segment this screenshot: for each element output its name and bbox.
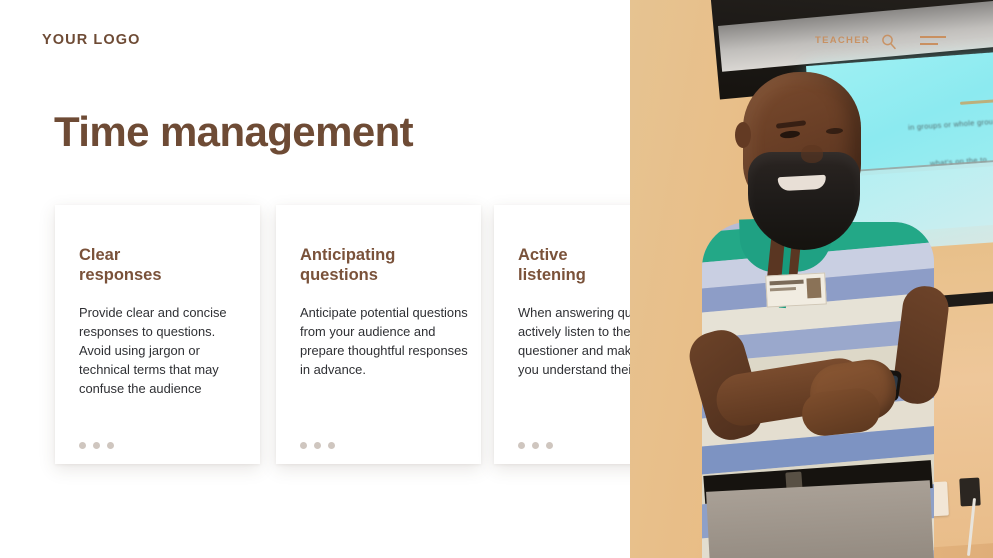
brand-logo[interactable]: YOUR LOGO xyxy=(42,32,141,48)
trousers xyxy=(706,480,934,558)
ear xyxy=(735,122,751,148)
card-body: Anticipate potential questions from your… xyxy=(300,304,469,380)
nose xyxy=(801,145,823,163)
card-title-line-1: Clear xyxy=(79,246,120,264)
dot-3[interactable] xyxy=(107,442,114,449)
slide-root: YOUR LOGO Time management Clear response… xyxy=(0,0,993,558)
card-title: Clear responses xyxy=(79,245,244,286)
feature-cards-group: Clear responses Provide clear and concis… xyxy=(55,205,700,464)
hamburger-menu-icon[interactable] xyxy=(920,36,946,48)
feature-card-clear-responses[interactable]: Clear responses Provide clear and concis… xyxy=(55,205,260,464)
card-title-line-2: listening xyxy=(518,266,586,284)
dot-1[interactable] xyxy=(79,442,86,449)
feature-card-anticipating-questions[interactable]: Anticipating questions Anticipate potent… xyxy=(276,205,481,464)
card-title-line-2: questions xyxy=(300,266,378,284)
presenter-figure xyxy=(630,0,993,558)
top-navigation: TEACHER xyxy=(630,0,993,78)
card-pagination-dots[interactable] xyxy=(79,442,114,449)
card-title-line-1: Anticipating xyxy=(300,246,395,264)
card-pagination-dots[interactable] xyxy=(518,442,553,449)
dot-2[interactable] xyxy=(532,442,539,449)
search-icon[interactable] xyxy=(880,33,898,51)
dot-2[interactable] xyxy=(314,442,321,449)
dot-2[interactable] xyxy=(93,442,100,449)
dot-3[interactable] xyxy=(328,442,335,449)
card-body: Provide clear and concise responses to q… xyxy=(79,304,248,399)
dot-3[interactable] xyxy=(546,442,553,449)
card-title-line-2: responses xyxy=(79,266,162,284)
card-title-line-1: Active xyxy=(518,246,568,264)
presenter-photo: in groups or whole grou what's on the to xyxy=(630,0,993,558)
nav-label-teacher[interactable]: TEACHER xyxy=(815,35,870,46)
dot-1[interactable] xyxy=(300,442,307,449)
dot-1[interactable] xyxy=(518,442,525,449)
card-pagination-dots[interactable] xyxy=(300,442,335,449)
page-title: Time management xyxy=(54,108,413,156)
card-title: Anticipating questions xyxy=(300,245,465,286)
name-badge xyxy=(765,272,827,307)
